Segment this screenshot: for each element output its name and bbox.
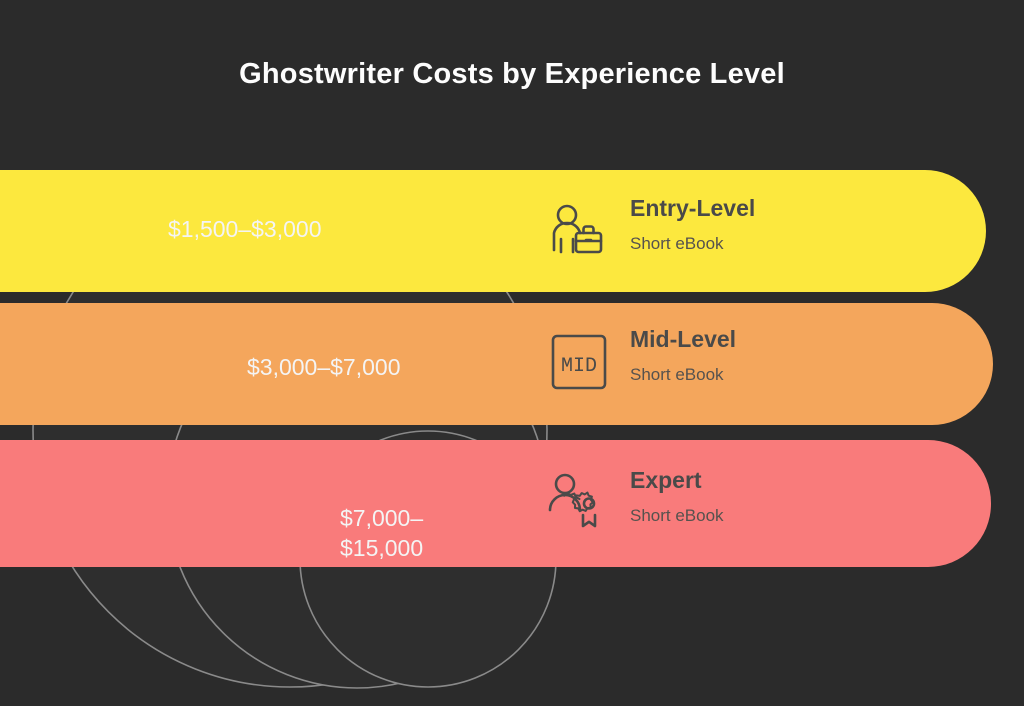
- bar-mid-level-subtitle: Short eBook: [630, 365, 736, 385]
- bar-entry-level-title: Entry-Level: [630, 194, 755, 222]
- mid-badge-icon: MID: [548, 331, 610, 393]
- bar-mid-level[interactable]: MID Mid-Level Short eBook: [0, 303, 993, 425]
- infographic-canvas: Ghostwriter Costs by Experience Level En…: [0, 0, 1024, 706]
- person-with-briefcase-icon: [545, 200, 607, 262]
- bar-expert[interactable]: Expert Short eBook: [0, 440, 991, 567]
- bar-entry-level-text: Entry-Level Short eBook: [630, 194, 755, 254]
- bar-mid-level-title: Mid-Level: [630, 325, 736, 353]
- price-label-mid-level: $3,000–$7,000: [247, 352, 401, 382]
- mid-badge-icon-label: MID: [561, 355, 597, 378]
- bar-entry-level-subtitle: Short eBook: [630, 234, 755, 254]
- bar-mid-level-text: Mid-Level Short eBook: [630, 325, 736, 385]
- bar-entry-level[interactable]: Entry-Level Short eBook: [0, 170, 986, 292]
- price-label-expert: $7,000– $15,000: [340, 503, 423, 563]
- price-label-entry-level: $1,500–$3,000: [168, 214, 322, 244]
- bar-expert-text: Expert Short eBook: [630, 466, 724, 526]
- bar-expert-subtitle: Short eBook: [630, 506, 724, 526]
- person-with-award-ribbon-icon: [545, 470, 607, 532]
- bar-expert-title: Expert: [630, 466, 724, 494]
